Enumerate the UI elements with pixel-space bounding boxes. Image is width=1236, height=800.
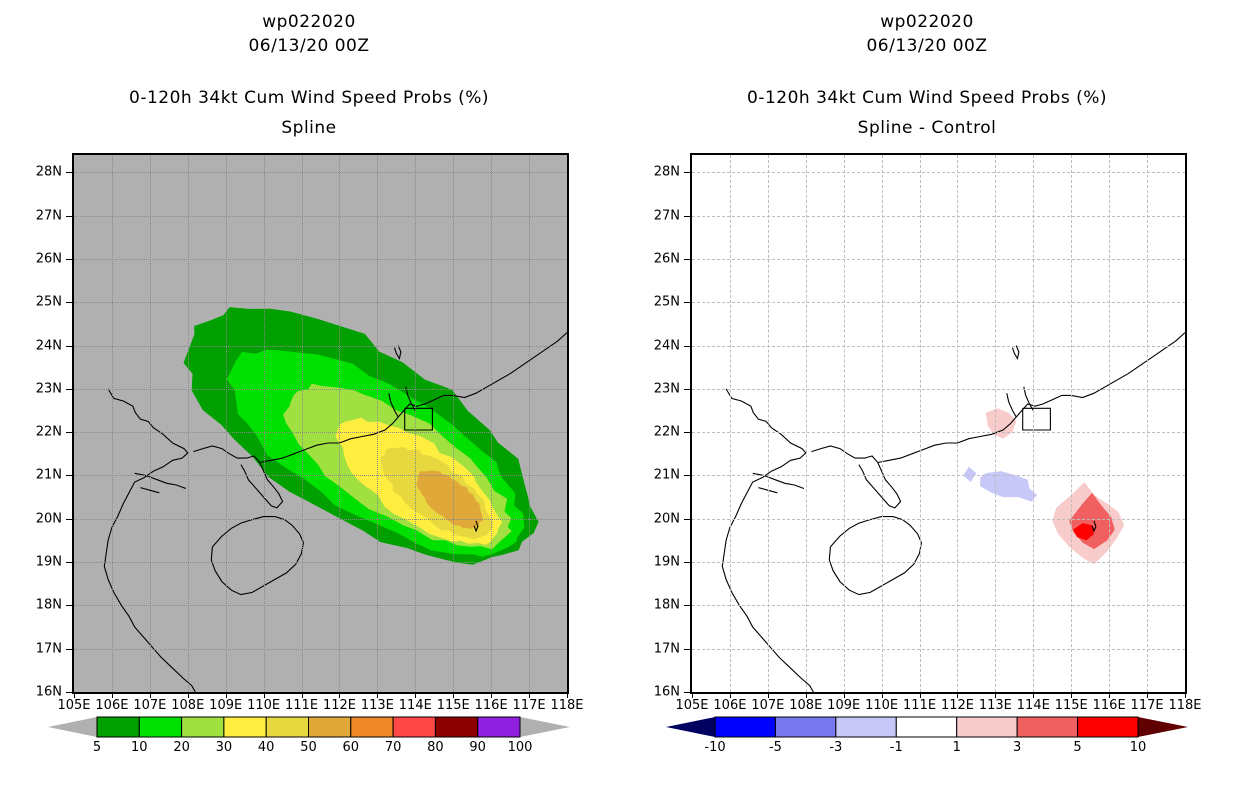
contour-overlay-difference: [692, 155, 1185, 692]
x-axis-tick-label: 106E: [95, 698, 128, 713]
gridline-horizontal: [74, 649, 567, 650]
storm-id-right: wp022020: [618, 12, 1236, 32]
colorbar-tick-label: -5: [769, 740, 782, 755]
colorbar-tick-label: 70: [385, 740, 402, 755]
gridline-vertical: [730, 155, 731, 692]
gridline-vertical: [339, 155, 340, 692]
x-axis-tick-label: 113E: [361, 698, 394, 713]
gridline-vertical: [188, 155, 189, 692]
colorbar-swatches-right: [618, 713, 1236, 765]
panel-spline: wp022020 06/13/20 00Z 0-120h 34kt Cum Wi…: [0, 0, 618, 800]
x-axis-tick-label: 109E: [209, 698, 242, 713]
x-axis-tick-label: 107E: [751, 698, 784, 713]
map-area-spline: [72, 153, 569, 694]
gridline-horizontal: [74, 605, 567, 606]
x-axis-tick-label: 118E: [1168, 698, 1201, 713]
y-axis-tick-label: 22N: [36, 425, 62, 440]
gridline-vertical: [1109, 155, 1110, 692]
gridline-horizontal: [692, 216, 1185, 217]
colorbar-swatches-left: [0, 713, 618, 765]
y-axis-tick-label: 25N: [36, 295, 62, 310]
x-axis-tick-label: 112E: [323, 698, 356, 713]
gridline-vertical: [112, 155, 113, 692]
panel-title-left: 0-120h 34kt Cum Wind Speed Probs (%): [0, 88, 618, 108]
colorbar-tick-label: 80: [427, 740, 444, 755]
colorbar-tick-label: 10: [1130, 740, 1147, 755]
figure-root: wp022020 06/13/20 00Z 0-120h 34kt Cum Wi…: [0, 0, 1236, 800]
colorbar-swatch: [896, 717, 956, 737]
y-axis-tick-label: 24N: [654, 338, 680, 353]
colorbar-cap-low: [666, 717, 715, 737]
gridline-horizontal: [692, 172, 1185, 173]
panel-subtitle-left: Spline: [0, 118, 618, 138]
gridline-horizontal: [74, 389, 567, 390]
x-axis-tick-label: 111E: [903, 698, 936, 713]
gridline-horizontal: [692, 475, 1185, 476]
colorbar-tick-label: 5: [1073, 740, 1081, 755]
x-axis-tick-label: 110E: [865, 698, 898, 713]
gridline-vertical: [529, 155, 530, 692]
gridline-horizontal: [74, 259, 567, 260]
x-axis-tick-label: 108E: [171, 698, 204, 713]
gridline-vertical: [995, 155, 996, 692]
colorbar-swatch: [1017, 717, 1077, 737]
x-axis-tick-label: 117E: [1131, 698, 1164, 713]
colorbar-tick-label: 30: [216, 740, 233, 755]
gridline-vertical: [1071, 155, 1072, 692]
colorbar-cap-high: [520, 717, 570, 737]
gridline-horizontal: [74, 475, 567, 476]
gridline-vertical: [226, 155, 227, 692]
colorbar-spline: 5102030405060708090100: [0, 713, 618, 765]
y-axis-tick-label: 27N: [36, 208, 62, 223]
x-axis-tick-label: 105E: [675, 698, 708, 713]
gridline-vertical: [150, 155, 151, 692]
gridline-horizontal: [692, 346, 1185, 347]
colorbar-cap-low: [48, 717, 97, 737]
gridline-vertical: [957, 155, 958, 692]
map-area-difference: [690, 153, 1187, 694]
gridline-vertical: [768, 155, 769, 692]
difference-contour-patch: [963, 467, 976, 482]
colorbar-swatch: [775, 717, 835, 737]
gridline-horizontal: [74, 302, 567, 303]
gridline-vertical: [491, 155, 492, 692]
gridline-horizontal: [692, 649, 1185, 650]
y-axis-tick-label: 19N: [36, 555, 62, 570]
y-axis-tick-label: 24N: [36, 338, 62, 353]
colorbar-swatch: [182, 717, 224, 737]
colorbar-swatch: [715, 717, 775, 737]
y-axis-tick-label: 28N: [36, 165, 62, 180]
x-axis-tick-label: 112E: [941, 698, 974, 713]
y-axis-tick-label: 18N: [36, 598, 62, 613]
gridline-horizontal: [692, 259, 1185, 260]
colorbar-difference: -10-5-3-113510: [618, 713, 1236, 765]
colorbar-tick-label: -3: [829, 740, 842, 755]
x-axis-tick-label: 106E: [713, 698, 746, 713]
x-axis-tick-label: 117E: [513, 698, 546, 713]
gridline-horizontal: [692, 432, 1185, 433]
y-axis-tick-label: 20N: [654, 511, 680, 526]
x-axis-tick-label: 107E: [133, 698, 166, 713]
coastline: [395, 346, 401, 359]
gridline-horizontal: [74, 216, 567, 217]
y-axis-tick-label: 26N: [654, 251, 680, 266]
y-axis-tick-label: 21N: [36, 468, 62, 483]
x-axis-tick-label: 118E: [550, 698, 583, 713]
colorbar-swatch: [224, 717, 266, 737]
x-axis-tick-label: 115E: [437, 698, 470, 713]
colorbar-swatch: [1078, 717, 1138, 737]
gridline-horizontal: [692, 562, 1185, 563]
colorbar-tick-label: 10: [131, 740, 148, 755]
region-box-outline: [1023, 408, 1051, 430]
gridline-vertical: [1033, 155, 1034, 692]
gridline-vertical: [377, 155, 378, 692]
colorbar-tick-label: 50: [300, 740, 317, 755]
gridline-vertical: [844, 155, 845, 692]
colorbar-swatch: [97, 717, 139, 737]
y-axis-tick-label: 18N: [654, 598, 680, 613]
gridline-vertical: [1147, 155, 1148, 692]
colorbar-tick-label: 5: [93, 740, 101, 755]
panel-title-right: 0-120h 34kt Cum Wind Speed Probs (%): [618, 88, 1236, 108]
colorbar-tick-label: 20: [173, 740, 190, 755]
colorbar-swatch: [957, 717, 1017, 737]
gridline-horizontal: [74, 346, 567, 347]
colorbar-tick-label: 60: [343, 740, 360, 755]
x-axis-tick-label: 114E: [1017, 698, 1050, 713]
colorbar-tick-label: 100: [508, 740, 533, 755]
y-axis-tick-label: 23N: [36, 381, 62, 396]
x-axis-tick-label: 110E: [247, 698, 280, 713]
panel-spline-minus-control: wp022020 06/13/20 00Z 0-120h 34kt Cum Wi…: [618, 0, 1236, 800]
colorbar-swatch: [266, 717, 308, 737]
colorbar-swatch: [435, 717, 477, 737]
y-axis-tick-label: 22N: [654, 425, 680, 440]
colorbar-swatch: [478, 717, 520, 737]
coastline: [1013, 346, 1019, 359]
x-axis-tick-label: 113E: [979, 698, 1012, 713]
x-axis-tick-label: 111E: [285, 698, 318, 713]
x-axis-tick-label: 108E: [789, 698, 822, 713]
y-axis-tick-label: 27N: [654, 208, 680, 223]
valid-time-right: 06/13/20 00Z: [618, 36, 1236, 56]
y-axis-tick-label: 21N: [654, 468, 680, 483]
storm-id-left: wp022020: [0, 12, 618, 32]
coastline: [812, 446, 901, 508]
colorbar-tick-label: 3: [1013, 740, 1021, 755]
gridline-horizontal: [692, 302, 1185, 303]
y-axis-tick-label: 25N: [654, 295, 680, 310]
gridline-vertical: [415, 155, 416, 692]
gridline-horizontal: [692, 605, 1185, 606]
gridline-horizontal: [74, 519, 567, 520]
gridline-horizontal: [74, 172, 567, 173]
colorbar-swatch: [309, 717, 351, 737]
y-axis-tick-label: 16N: [654, 685, 680, 700]
y-axis-tick-label: 16N: [36, 685, 62, 700]
colorbar-tick-label: -1: [890, 740, 903, 755]
contour-overlay-spline: [74, 155, 567, 692]
colorbar-swatch: [139, 717, 181, 737]
valid-time-left: 06/13/20 00Z: [0, 36, 618, 56]
y-axis-tick-label: 19N: [654, 555, 680, 570]
colorbar-tick-label: 90: [469, 740, 486, 755]
colorbar-swatch: [836, 717, 896, 737]
gridline-horizontal: [692, 389, 1185, 390]
gridline-horizontal: [74, 562, 567, 563]
x-axis-tick-label: 105E: [57, 698, 90, 713]
y-axis-tick-label: 17N: [36, 641, 62, 656]
x-axis-tick-label: 116E: [475, 698, 508, 713]
gridline-vertical: [453, 155, 454, 692]
x-axis-tick-label: 115E: [1055, 698, 1088, 713]
gridline-horizontal: [74, 432, 567, 433]
panel-subtitle-right: Spline - Control: [618, 118, 1236, 138]
x-axis-tick-label: 116E: [1093, 698, 1126, 713]
y-axis-tick-label: 23N: [654, 381, 680, 396]
colorbar-tick-label: 40: [258, 740, 275, 755]
y-axis-tick-label: 28N: [654, 165, 680, 180]
gridline-vertical: [302, 155, 303, 692]
colorbar-swatch: [351, 717, 393, 737]
colorbar-cap-high: [1138, 717, 1188, 737]
gridline-horizontal: [74, 692, 567, 693]
gridline-vertical: [264, 155, 265, 692]
gridline-horizontal: [692, 519, 1185, 520]
gridline-vertical: [920, 155, 921, 692]
gridline-vertical: [806, 155, 807, 692]
colorbar-tick-label: -10: [704, 740, 725, 755]
y-axis-tick-label: 20N: [36, 511, 62, 526]
y-axis-tick-label: 26N: [36, 251, 62, 266]
gridline-vertical: [882, 155, 883, 692]
gridline-horizontal: [692, 692, 1185, 693]
colorbar-tick-label: 1: [953, 740, 961, 755]
y-axis-tick-label: 17N: [654, 641, 680, 656]
x-axis-tick-label: 109E: [827, 698, 860, 713]
coastline: [878, 333, 1185, 463]
colorbar-swatch: [393, 717, 435, 737]
x-axis-tick-label: 114E: [399, 698, 432, 713]
